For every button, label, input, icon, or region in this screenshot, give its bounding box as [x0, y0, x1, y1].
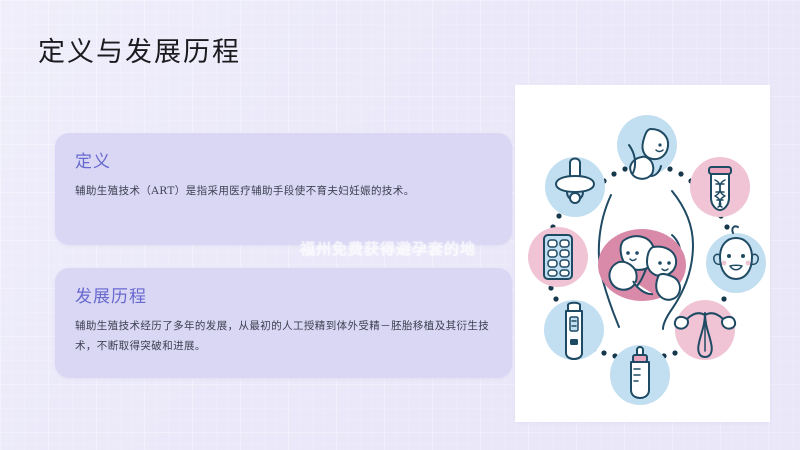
reproductive-health-illustration: .ln{fill:none;stroke:#1f4a63;stroke-widt… [515, 85, 770, 422]
dna-test-tube-icon [690, 157, 750, 217]
page-title: 定义与发展历程 [38, 30, 241, 69]
pregnancy-test-icon [544, 300, 604, 360]
baby-bottle-icon [610, 345, 670, 405]
card-history-title: 发展历程 [75, 282, 147, 307]
card-history-body: 辅助生殖技术经历了多年的发展，从最初的人工授精到体外受精－胚胎移植及其衍生技术，… [75, 316, 498, 356]
card-definition-body: 辅助生殖技术（ART）是指采用医疗辅助手段使不育夫妇妊娠的技术。 [75, 181, 498, 201]
pacifier-icon [545, 157, 605, 217]
card-definition: 定义 辅助生殖技术（ART）是指采用医疗辅助手段使不育夫妇妊娠的技术。 [55, 133, 512, 245]
baby-face-icon [706, 226, 766, 293]
card-history: 发展历程 辅助生殖技术经历了多年的发展，从最初的人工授精到体外受精－胚胎移植及其… [55, 268, 512, 378]
uterus-icon [675, 300, 735, 360]
watermark-text: 福州免费获得避孕套的地 [300, 238, 476, 259]
pregnant-belly-illustration [598, 191, 693, 329]
card-definition-title: 定义 [75, 147, 111, 172]
pill-blister-pack-icon [528, 227, 588, 287]
illustration-panel: .ln{fill:none;stroke:#1f4a63;stroke-widt… [515, 85, 770, 422]
